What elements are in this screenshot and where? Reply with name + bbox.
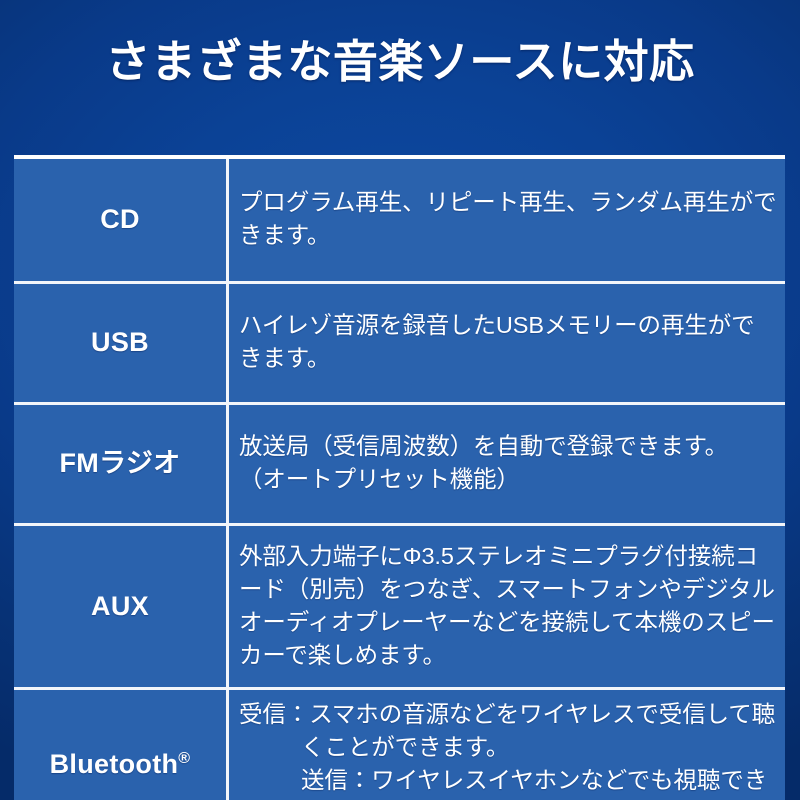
table-row: CD プログラム再生、リピート再生、ランダム再生ができます。 <box>14 157 785 283</box>
source-description-cell-usb: ハイレゾ音源を録音したUSBメモリーの再生ができます。 <box>228 283 786 404</box>
source-name-label: USB <box>91 327 149 357</box>
source-name-label: Bluetooth <box>50 749 179 779</box>
table-row: USB ハイレゾ音源を録音したUSBメモリーの再生ができます。 <box>14 283 785 404</box>
source-description-text: 放送局（受信周波数）を自動で登録できます。 （オートプリセット機能） <box>239 430 777 496</box>
source-description-text: 受信：スマホの音源などをワイヤレスで受信して聴くことができます。 送信：ワイヤレ… <box>239 698 777 800</box>
source-name-label: FMラジオ <box>60 448 181 478</box>
source-name-cell-cd: CD <box>14 157 228 283</box>
source-description-text: プログラム再生、リピート再生、ランダム再生ができます。 <box>239 186 777 252</box>
source-description-cell-aux: 外部入力端子にΦ3.5ステレオミニプラグ付接続コード（別売）をつなぎ、スマートフ… <box>228 525 786 689</box>
source-name-cell-fm: FMラジオ <box>14 404 228 525</box>
table-row: Bluetooth® 受信：スマホの音源などをワイヤレスで受信して聴くことができ… <box>14 689 785 800</box>
source-description-cell-fm: 放送局（受信周波数）を自動で登録できます。 （オートプリセット機能） <box>228 404 786 525</box>
table-row: AUX 外部入力端子にΦ3.5ステレオミニプラグ付接続コード（別売）をつなぎ、ス… <box>14 525 785 689</box>
source-name-cell-aux: AUX <box>14 525 228 689</box>
source-name-label-group: Bluetooth® <box>50 749 191 779</box>
page-title: さまざまな音楽ソースに対応 <box>105 33 694 91</box>
source-description-cell-cd: プログラム再生、リピート再生、ランダム再生ができます。 <box>228 157 786 283</box>
table-body: CD プログラム再生、リピート再生、ランダム再生ができます。 USB ハイレゾ音… <box>14 157 785 800</box>
page-title-container: さまざまな音楽ソースに対応 <box>0 33 800 91</box>
table-row: FMラジオ 放送局（受信周波数）を自動で登録できます。 （オートプリセット機能） <box>14 404 785 525</box>
source-name-cell-bluetooth: Bluetooth® <box>14 689 228 800</box>
source-description-text: ハイレゾ音源を録音したUSBメモリーの再生ができます。 <box>239 309 777 375</box>
source-description-text: 外部入力端子にΦ3.5ステレオミニプラグ付接続コード（別売）をつなぎ、スマートフ… <box>239 540 777 672</box>
source-name-label: AUX <box>91 591 149 621</box>
registered-trademark-icon: ® <box>178 750 190 767</box>
slide-root: さまざまな音楽ソースに対応 CD プログラム再生、リピート再生、ランダム再生がで… <box>0 0 800 800</box>
source-name-cell-usb: USB <box>14 283 228 404</box>
music-sources-table: CD プログラム再生、リピート再生、ランダム再生ができます。 USB ハイレゾ音… <box>14 155 785 800</box>
source-name-label: CD <box>100 204 140 234</box>
source-description-cell-bluetooth: 受信：スマホの音源などをワイヤレスで受信して聴くことができます。 送信：ワイヤレ… <box>228 689 786 800</box>
